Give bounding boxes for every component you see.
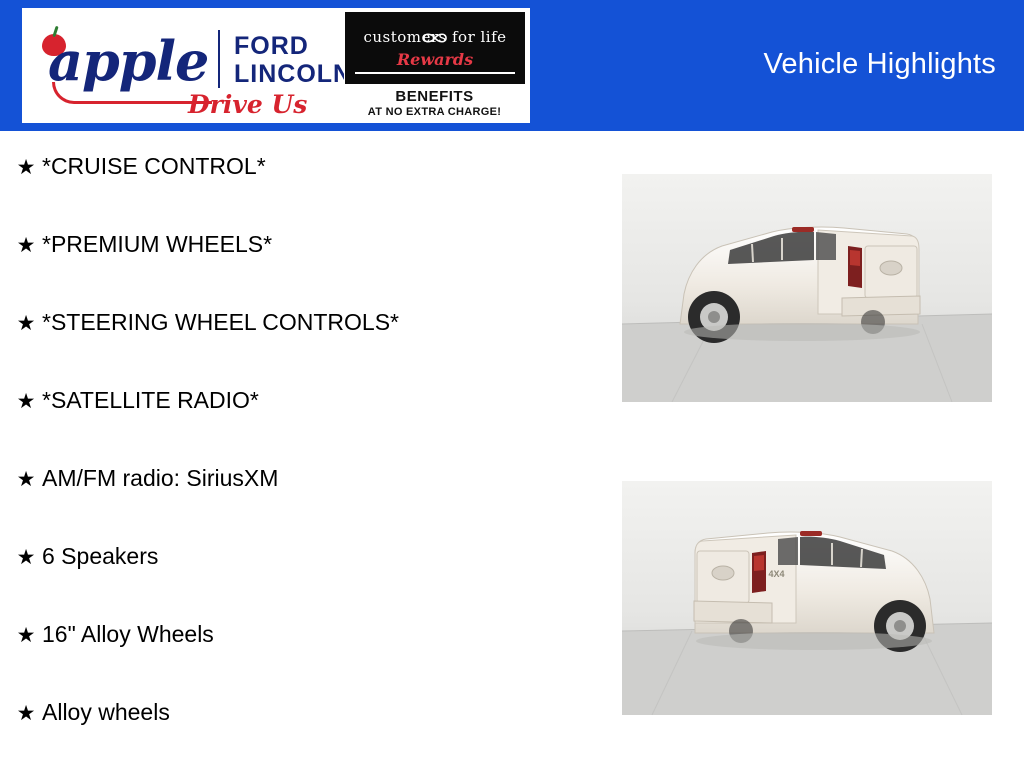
feature-label: 6 Speakers — [42, 543, 158, 570]
list-item: ★ AM/FM radio: SiriusXM — [10, 465, 600, 543]
brand-lincoln: LINCOLN — [234, 60, 352, 89]
list-item: ★ *PREMIUM WHEELS* — [10, 231, 600, 309]
dealer-name: apple — [48, 34, 208, 88]
feature-label: *SATELLITE RADIO* — [42, 387, 259, 414]
feature-label: Alloy wheels — [42, 699, 170, 726]
list-item: ★ *SATELLITE RADIO* — [10, 387, 600, 465]
vehicle-highlights-list: ★ *CRUISE CONTROL* ★ *PREMIUM WHEELS* ★ … — [0, 131, 600, 768]
list-item: ★ *CRUISE CONTROL* — [10, 153, 600, 231]
benefits-label: BENEFITS — [345, 88, 524, 105]
rewards-badge-panel: customers for life Rewards — [345, 12, 525, 84]
feature-label: AM/FM radio: SiriusXM — [42, 465, 278, 492]
star-bullet-icon: ★ — [10, 391, 42, 412]
vehicle-photo-rear-driver[interactable]: SV 4X4 — [622, 481, 992, 715]
star-bullet-icon: ★ — [10, 703, 42, 724]
rewards-badge-top-text: customers for life — [345, 28, 525, 46]
feature-label: *CRUISE CONTROL* — [42, 153, 266, 180]
rewards-badge-rule — [355, 72, 515, 74]
logo-divider — [218, 30, 220, 88]
no-extra-charge-label: AT NO EXTRA CHARGE! — [345, 106, 524, 118]
star-bullet-icon: ★ — [10, 547, 42, 568]
list-item: ★ 6 Speakers — [10, 543, 600, 621]
list-item: ★ Alloy wheels — [10, 699, 600, 777]
vehicle-photo-rear-driver-graphic: SV 4X4 — [622, 481, 992, 715]
rewards-badge: customers for life Rewards BENEFITS AT N… — [344, 8, 530, 123]
star-bullet-icon: ★ — [10, 625, 42, 646]
dealer-logo-primary: apple FORD LINCOLN Drive Us — [22, 8, 344, 123]
list-item: ★ 16" Alloy Wheels — [10, 621, 600, 699]
dealer-tagline: Drive Us — [188, 90, 307, 119]
brand-ford: FORD — [234, 32, 309, 61]
feature-label: *PREMIUM WHEELS* — [42, 231, 272, 258]
page-header: apple FORD LINCOLN Drive Us customers fo… — [0, 0, 1024, 131]
feature-label: *STEERING WHEEL CONTROLS* — [42, 309, 399, 336]
star-bullet-icon: ★ — [10, 313, 42, 334]
star-bullet-icon: ★ — [10, 469, 42, 490]
list-item: ★ *STEERING WHEEL CONTROLS* — [10, 309, 600, 387]
page-title: Vehicle Highlights — [763, 48, 996, 81]
vehicle-photo-rear-passenger[interactable] — [622, 174, 992, 402]
dealer-logo: apple FORD LINCOLN Drive Us customers fo… — [22, 8, 530, 123]
star-bullet-icon: ★ — [10, 235, 42, 256]
star-bullet-icon: ★ — [10, 157, 42, 178]
feature-label: 16" Alloy Wheels — [42, 621, 214, 648]
rewards-badge-script: Rewards — [345, 50, 525, 69]
vehicle-photo-rear-passenger-graphic — [622, 174, 992, 402]
